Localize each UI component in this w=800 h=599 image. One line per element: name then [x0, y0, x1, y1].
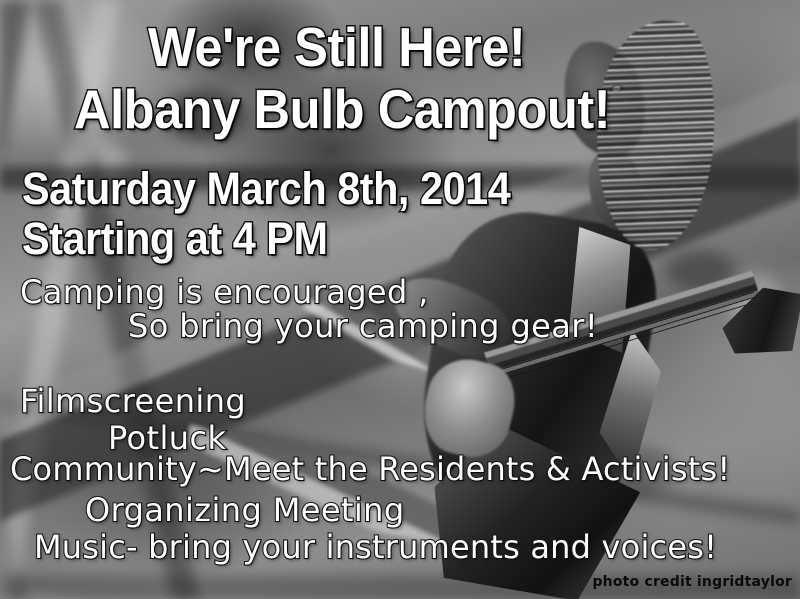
activity-item: Community~Meet the Residents & Activists…: [10, 453, 730, 485]
activity-item: Music- bring your instruments and voices…: [34, 531, 717, 563]
event-start-time: Starting at 4 PM: [22, 216, 327, 261]
headline-line-2: Albany Bulb Campout!: [74, 82, 610, 137]
headline-line-1: We're Still Here!: [148, 20, 525, 75]
event-date: Saturday March 8th, 2014: [22, 166, 510, 211]
camping-note-line-1: Camping is encouraged ,: [20, 276, 429, 308]
flyer-text-layer: We're Still Here! Albany Bulb Campout! S…: [0, 0, 800, 599]
activity-item: Organizing Meeting: [85, 494, 405, 526]
activity-item: Filmscreening: [20, 385, 246, 417]
camping-note-line-2: So bring your camping gear!: [128, 310, 598, 342]
flyer-poster: We're Still Here! Albany Bulb Campout! S…: [0, 0, 800, 599]
photo-credit: photo credit ingridtaylor: [592, 574, 792, 590]
